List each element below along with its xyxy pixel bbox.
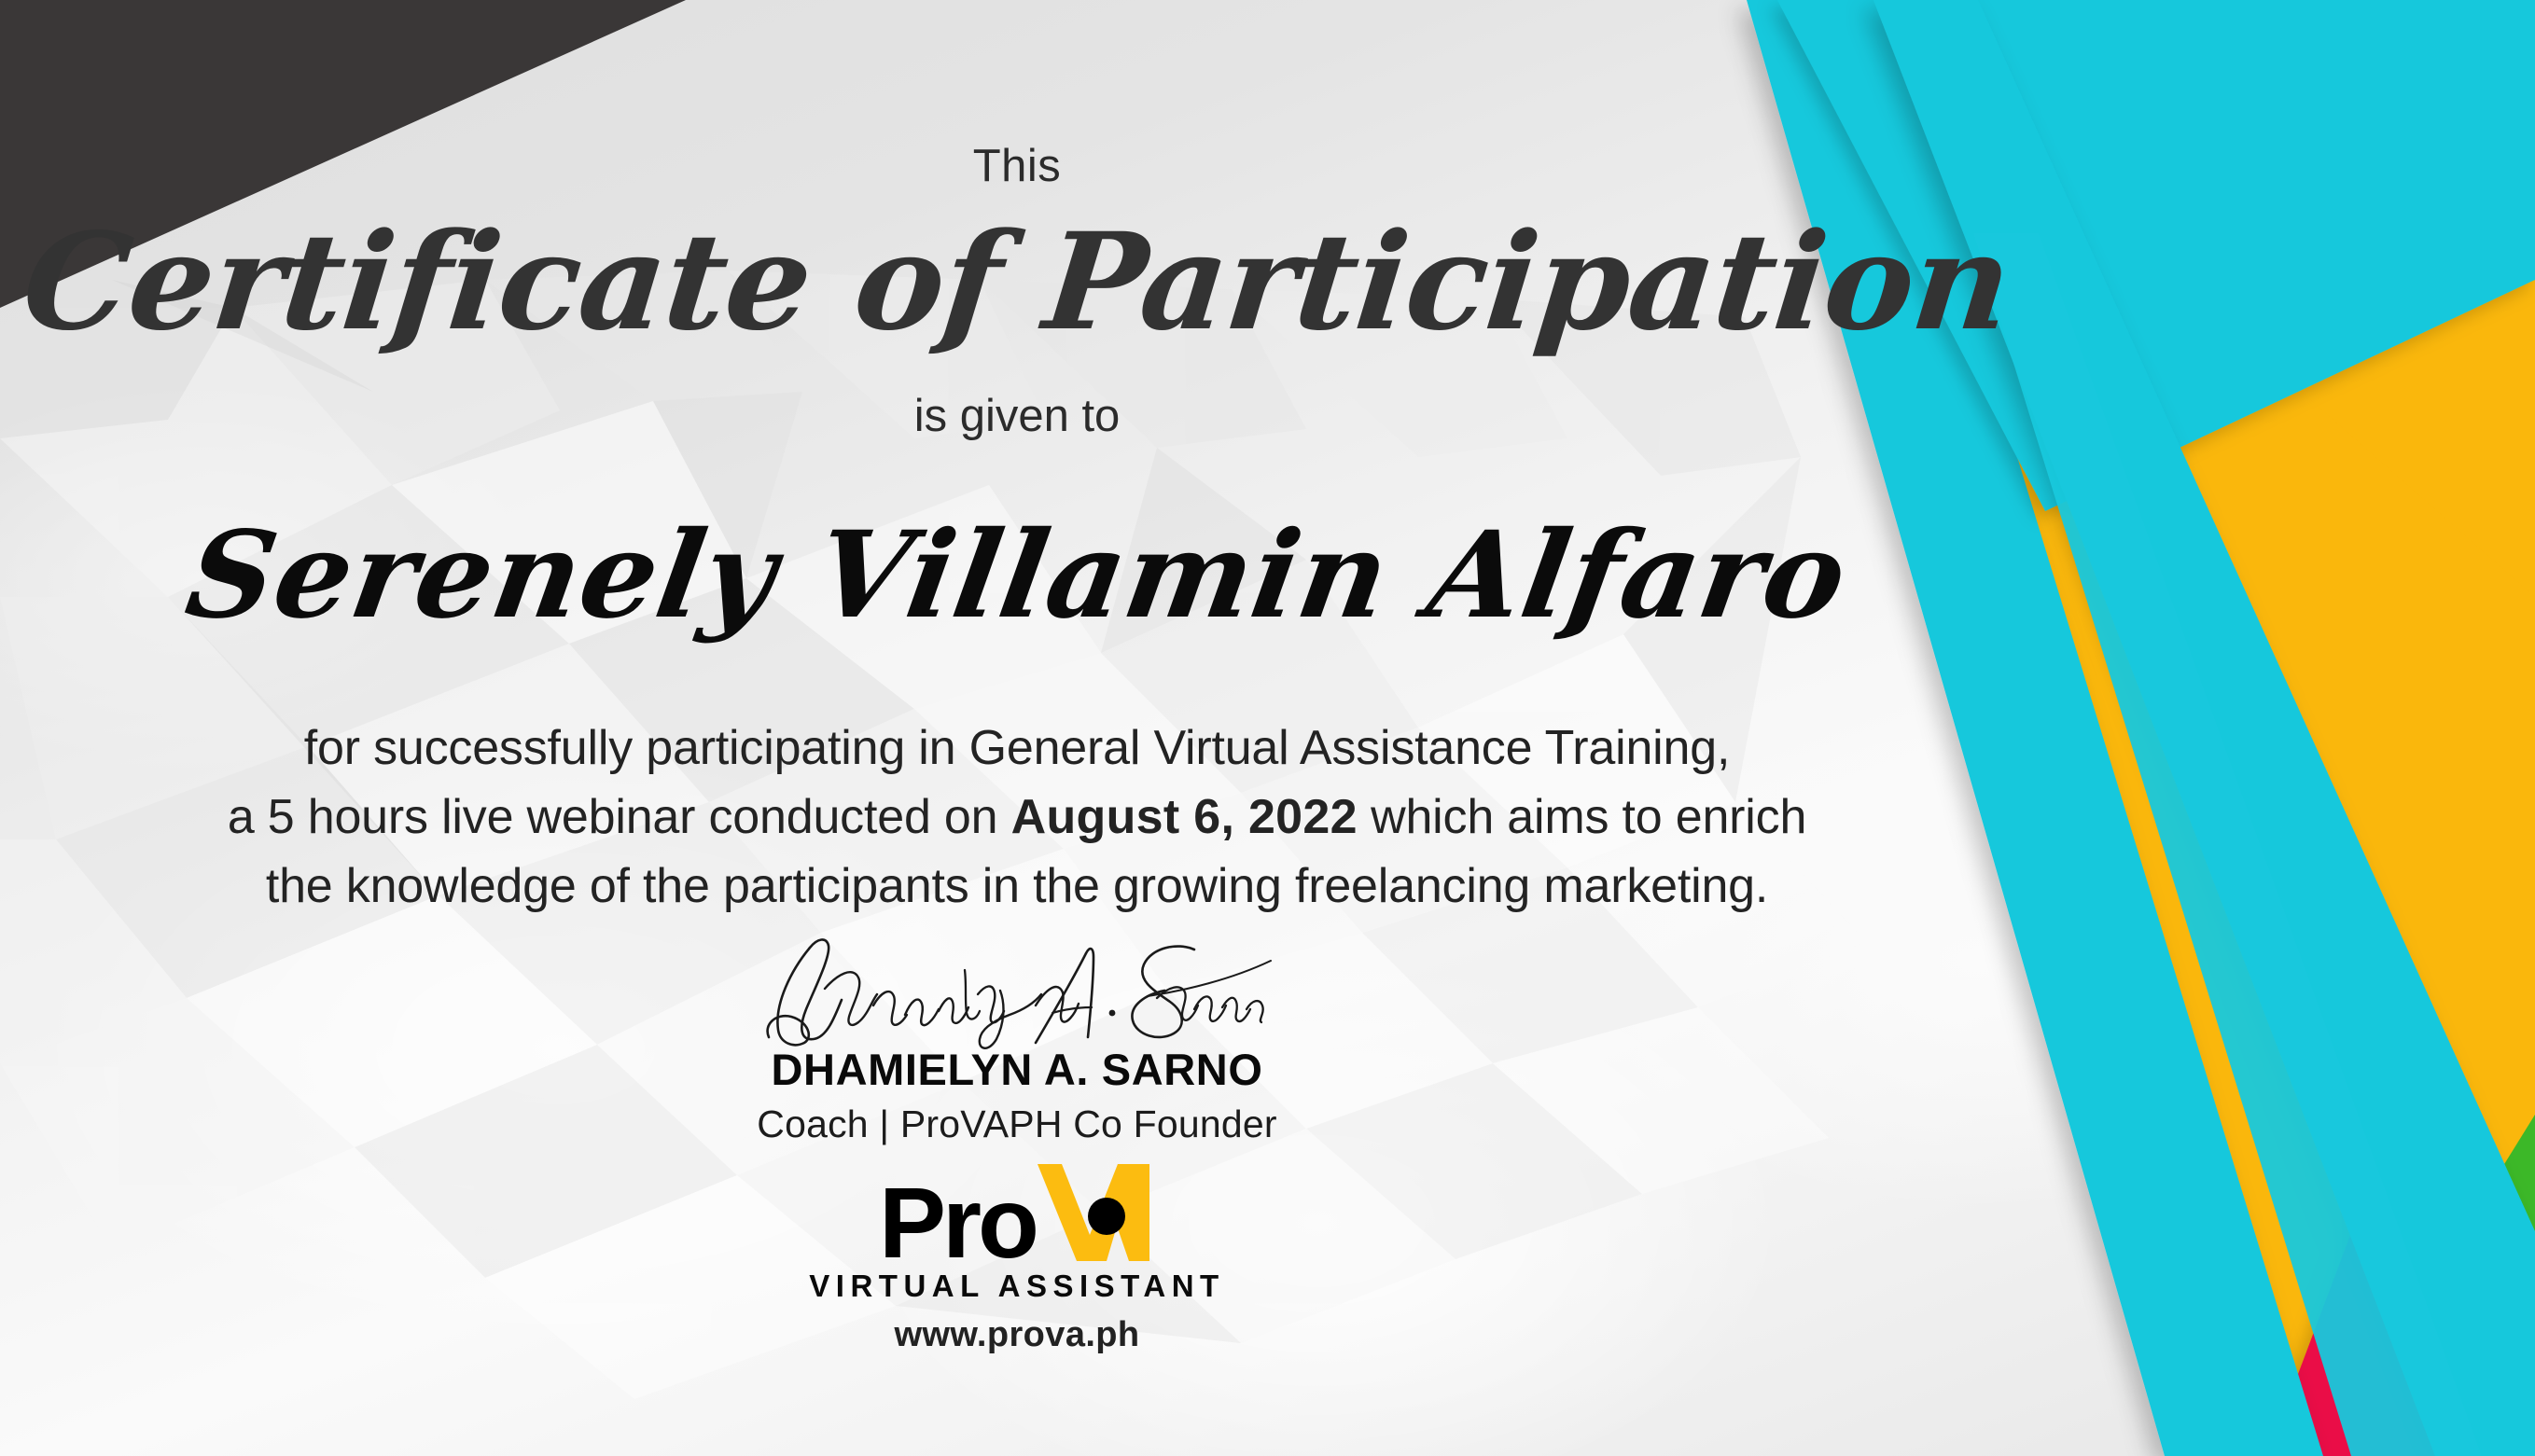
signer-name: DHAMIELYN A. SARNO	[0, 1044, 2034, 1095]
event-date: August 6, 2022	[1011, 790, 1358, 844]
logo-word-pro: Pro	[879, 1182, 1036, 1265]
body-line-2: a 5 hours live webinar conducted on Augu…	[0, 783, 2034, 853]
signer-role: Coach | ProVAPH Co Founder	[0, 1102, 2034, 1146]
certificate-canvas: This Certificate of Participation is giv…	[0, 0, 2535, 1456]
signature-block: DHAMIELYN A. SARNO Coach | ProVAPH Co Fo…	[0, 933, 2034, 1146]
body-line-2-before: a 5 hours live webinar conducted on	[228, 790, 998, 844]
body-line-1: for successfully participating in Genera…	[0, 714, 2034, 783]
certificate-body: for successfully participating in Genera…	[0, 714, 2034, 921]
recipient-name: Serenely Villamin Alfaro	[0, 506, 2045, 645]
body-line-2-after: which aims to enrich	[1371, 790, 1806, 844]
certificate-content: This Certificate of Participation is giv…	[0, 0, 2034, 921]
logo-url: www.prova.ph	[0, 1315, 2034, 1355]
handwritten-signature-icon	[756, 933, 1278, 1049]
brand-logo-block: Pro VIRTUAL ASSISTANT www.prova.ph	[0, 1164, 2034, 1355]
certificate-title: Certificate of Participation	[0, 215, 2041, 351]
intro-text: This	[0, 140, 2034, 192]
logo-tagline: VIRTUAL ASSISTANT	[0, 1269, 2034, 1304]
va-monogram-icon	[1032, 1164, 1155, 1261]
prova-logo-mark: Pro	[879, 1164, 1155, 1265]
body-line-3: the knowledge of the participants in the…	[0, 853, 2034, 922]
given-to-label: is given to	[0, 390, 2034, 442]
